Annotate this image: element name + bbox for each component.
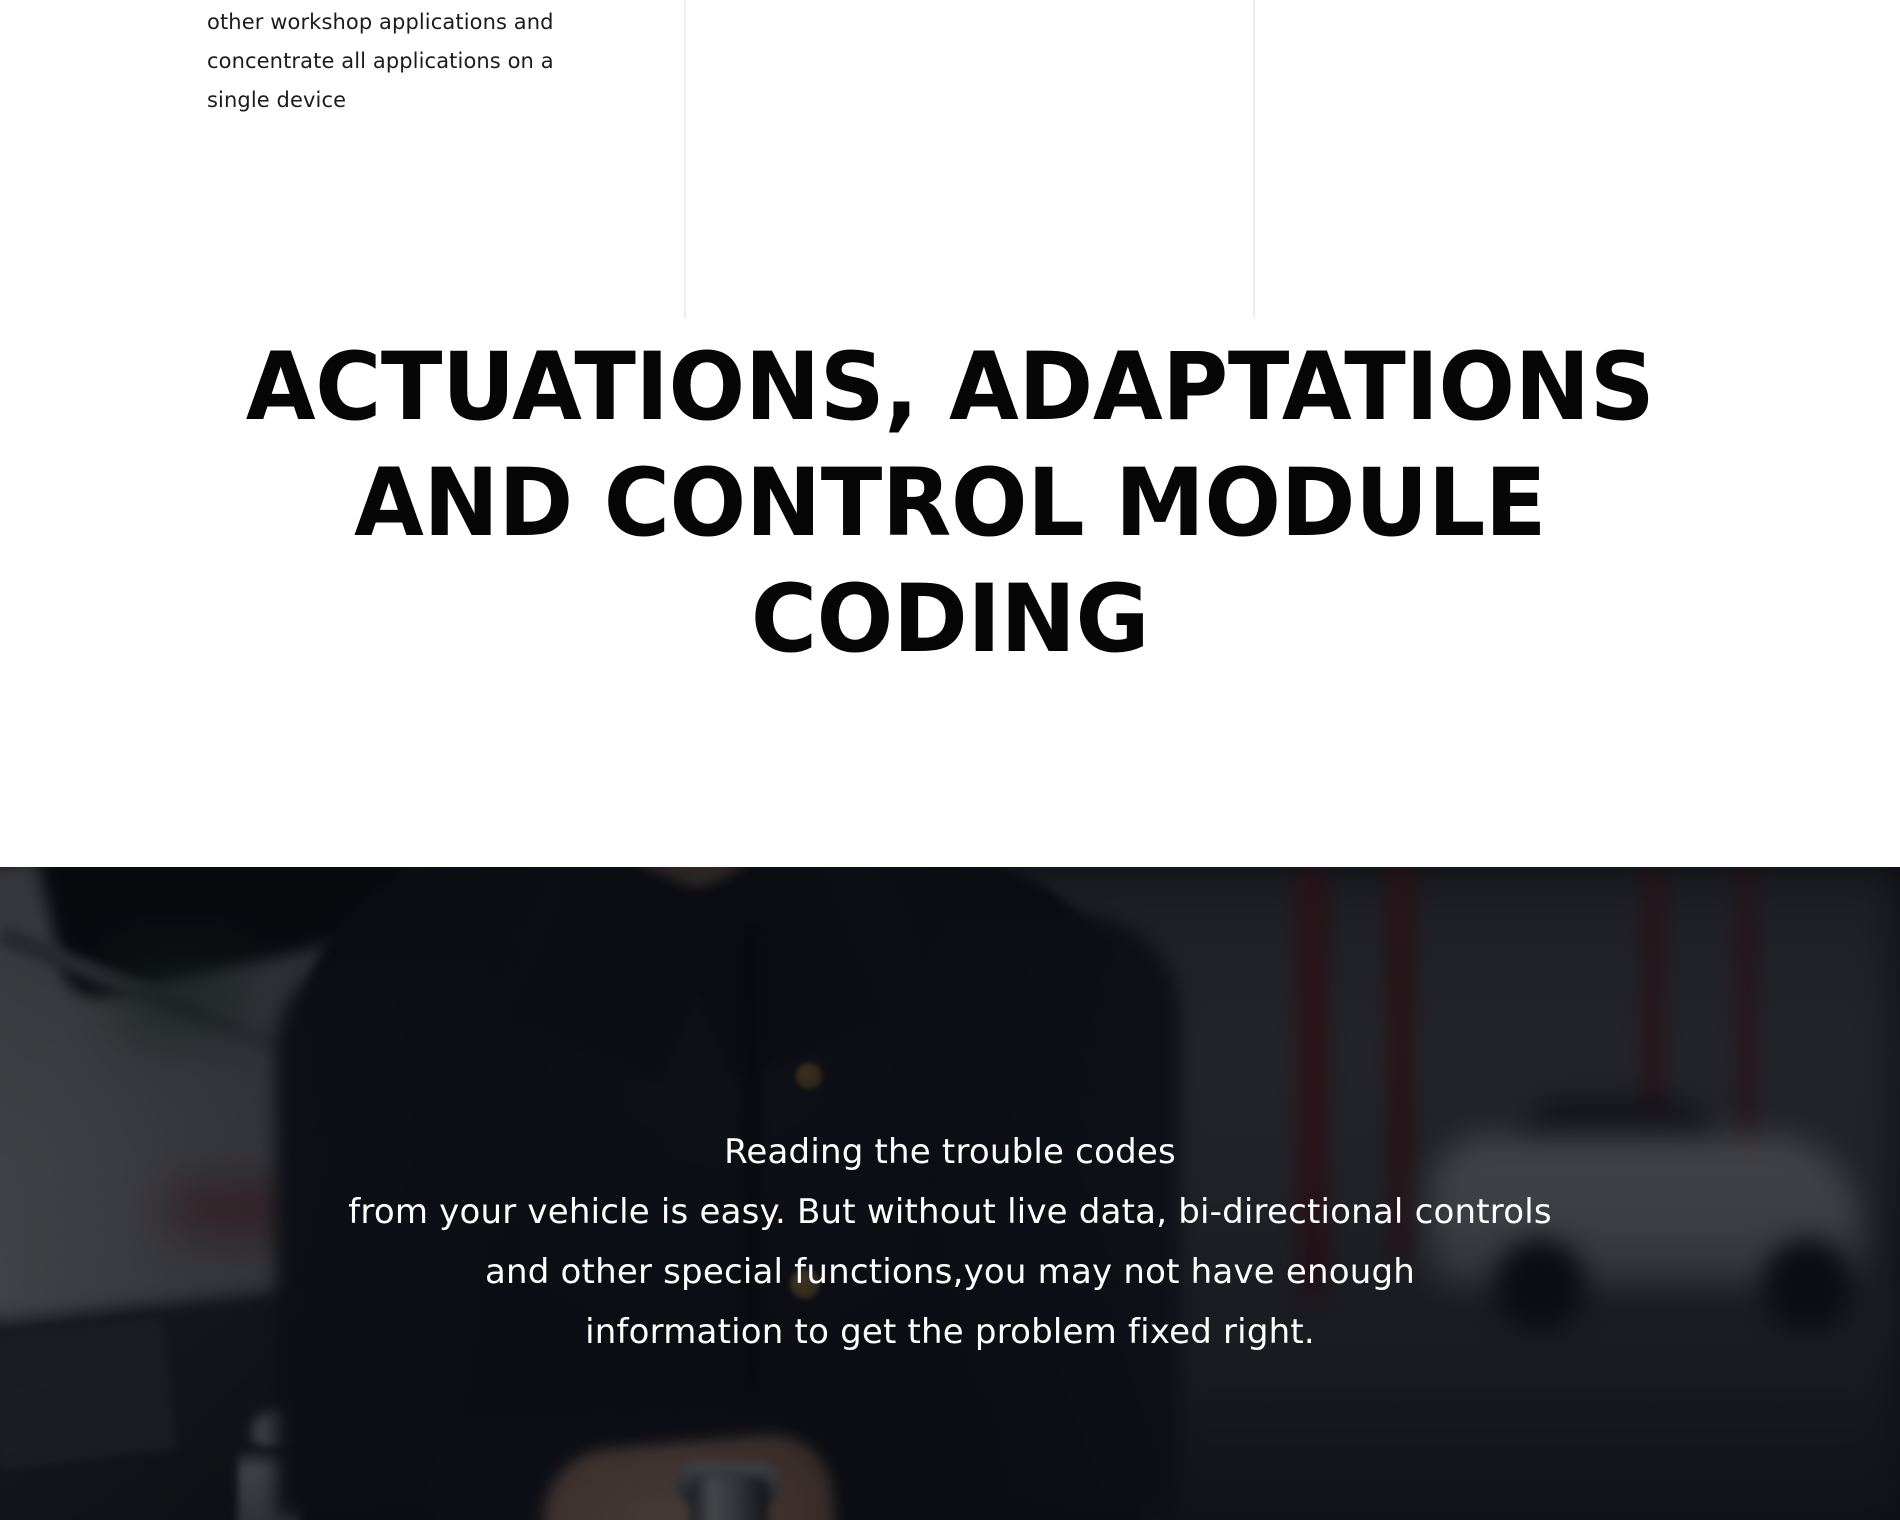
- feature-number-1: 10: [95, 0, 211, 8]
- feature-row: 10 system allows technicians to add othe…: [0, 0, 1900, 318]
- feature-description-1: system allows technicians to add other w…: [207, 0, 567, 120]
- feature-column-1: 10 system allows technicians to add othe…: [0, 0, 684, 318]
- feature-description-2: technical team: [802, 0, 1132, 3]
- hero-paragraph: Reading the trouble codes from your vehi…: [0, 867, 1900, 1362]
- feature-column-2: 17 technical team: [684, 0, 1253, 318]
- section-heading: ACTUATIONS, ADAPTATIONS AND CONTROL MODU…: [182, 330, 1718, 678]
- page-root: 10 system allows technicians to add othe…: [0, 0, 1900, 1520]
- hero-banner: Reading the trouble codes from your vehi…: [0, 867, 1900, 1520]
- feature-column-3: [1253, 0, 1900, 318]
